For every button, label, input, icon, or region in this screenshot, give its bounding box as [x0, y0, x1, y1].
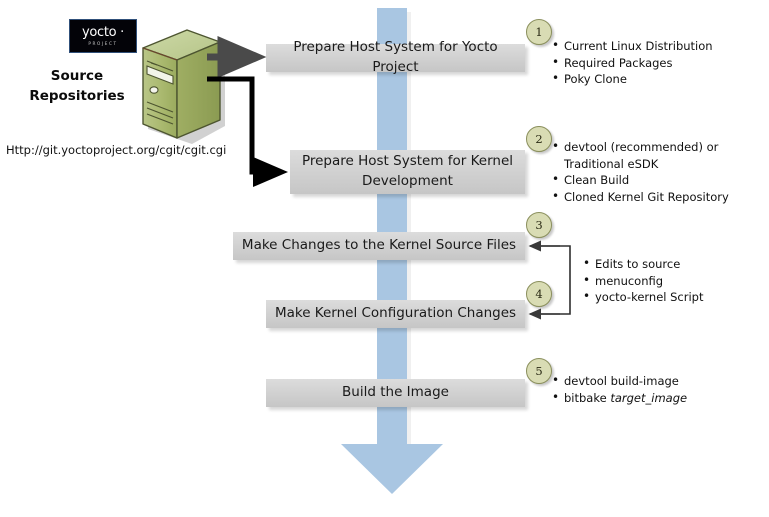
source-repositories-label: Source Repositories	[12, 66, 142, 106]
server-tower-icon	[133, 26, 225, 146]
step34-bullet-list: Edits to source menuconfig yocto-kernel …	[583, 256, 704, 306]
bullet-item: Clean Build	[552, 172, 729, 189]
bullet-item: yocto-kernel Script	[583, 289, 704, 306]
source-repositories-label-line2: Repositories	[12, 86, 142, 106]
diagram-canvas: yocto · PROJECT Source Repositories Http…	[0, 0, 769, 517]
workflow-down-arrow-icon	[341, 444, 443, 494]
step-box-label: Make Changes to the Kernel Source Files	[242, 236, 516, 256]
step-box-build-image[interactable]: Build the Image	[266, 379, 525, 407]
bullet-item: Poky Clone	[552, 71, 713, 88]
yocto-logo-subword: PROJECT	[88, 40, 117, 47]
bullet-text: bitbake	[564, 391, 610, 405]
step-number-text: 3	[535, 218, 542, 232]
step-box-label: Build the Image	[342, 383, 449, 403]
step-box-make-source-changes[interactable]: Make Changes to the Kernel Source Files	[233, 232, 525, 260]
bullet-text: devtool build-image	[564, 374, 679, 388]
step-number-badge-1: 1	[526, 19, 552, 45]
step-number-text: 5	[535, 364, 542, 378]
bullet-item: devtool (recommended) or Traditional eSD…	[552, 139, 729, 172]
step-number-badge-4: 4	[526, 281, 552, 307]
bullet-item: Required Packages	[552, 55, 713, 72]
step5-bullet-list: devtool build-image bitbake target_image	[552, 373, 687, 406]
step2-bullet-list: devtool (recommended) or Traditional eSD…	[552, 139, 729, 205]
yocto-project-logo: yocto · PROJECT	[69, 19, 137, 53]
bullet-item: Edits to source	[583, 256, 704, 273]
step-number-badge-5: 5	[526, 358, 552, 384]
bullet-item: Current Linux Distribution	[552, 38, 713, 55]
step1-bullet-list: Current Linux Distribution Required Pack…	[552, 38, 713, 88]
step-number-badge-3: 3	[526, 212, 552, 238]
bullet-text-italic: target_image	[610, 391, 687, 405]
step-box-prepare-host-yocto[interactable]: Prepare Host System for Yocto Project	[266, 44, 525, 72]
source-repositories-label-line1: Source	[12, 66, 142, 86]
yocto-logo-word: yocto ·	[82, 26, 124, 39]
step-box-label: Prepare Host System for Kernel Developme…	[298, 152, 517, 191]
step-box-prepare-host-kernel[interactable]: Prepare Host System for Kernel Developme…	[290, 150, 525, 194]
step-number-text: 4	[535, 287, 542, 301]
bullet-item: bitbake target_image	[552, 390, 687, 407]
step-box-label: Make Kernel Configuration Changes	[275, 304, 516, 324]
step-number-text: 1	[535, 25, 542, 39]
step-number-text: 2	[535, 132, 542, 146]
step-box-label: Prepare Host System for Yocto Project	[274, 38, 517, 77]
bullet-item: menuconfig	[583, 273, 704, 290]
bullet-item: devtool build-image	[552, 373, 687, 390]
step-number-badge-2: 2	[526, 126, 552, 152]
bullet-item: Cloned Kernel Git Repository	[552, 189, 729, 206]
step-box-make-config-changes[interactable]: Make Kernel Configuration Changes	[266, 300, 525, 328]
